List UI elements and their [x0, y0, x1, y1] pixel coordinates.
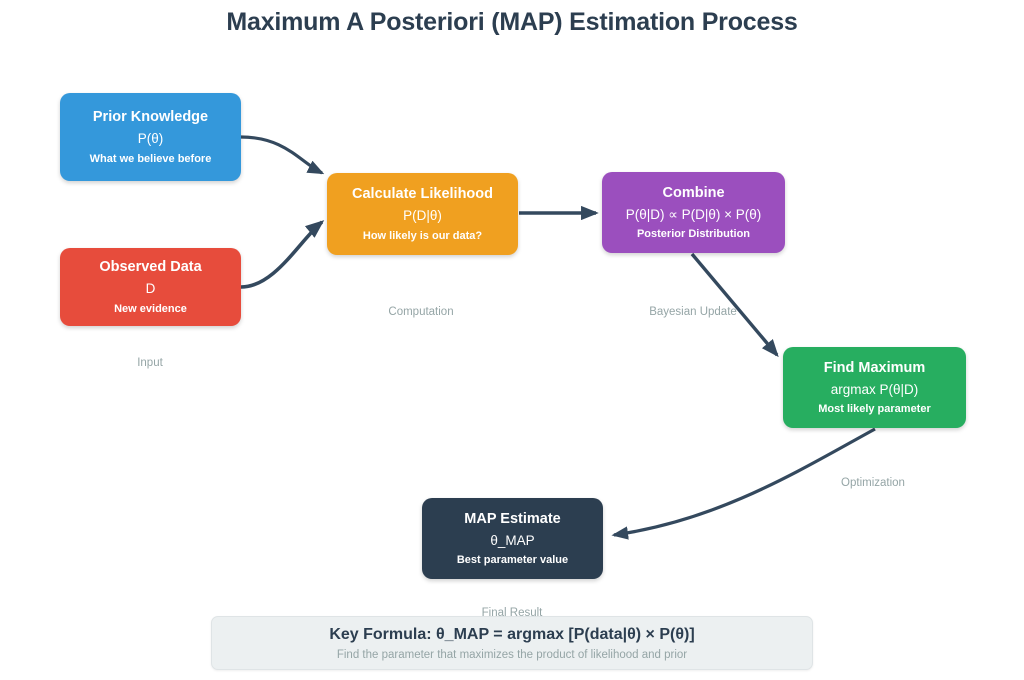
- node-find-maximum[interactable]: Find Maximum argmax P(θ|D) Most likely p…: [783, 347, 966, 428]
- node-title: Combine: [662, 185, 724, 202]
- edge-label-input: Input: [137, 357, 163, 369]
- node-title: Calculate Likelihood: [352, 186, 493, 203]
- node-title: MAP Estimate: [464, 511, 560, 528]
- node-map-estimate[interactable]: MAP Estimate θ_MAP Best parameter value: [422, 498, 603, 579]
- edge-label-bayesian-update: Bayesian Update: [649, 306, 737, 318]
- node-prior-knowledge[interactable]: Prior Knowledge P(θ) What we believe bef…: [60, 93, 241, 181]
- diagram-canvas: Maximum A Posteriori (MAP) Estimation Pr…: [0, 0, 1024, 680]
- node-subtitle: Best parameter value: [457, 554, 568, 566]
- node-subtitle: What we believe before: [90, 153, 212, 165]
- node-formula: P(θ|D) ∝ P(D|θ) × P(θ): [626, 207, 762, 223]
- node-calculate-likelihood[interactable]: Calculate Likelihood P(D|θ) How likely i…: [327, 173, 518, 255]
- node-subtitle: Posterior Distribution: [637, 228, 750, 240]
- node-formula: argmax P(θ|D): [831, 382, 919, 398]
- node-subtitle: How likely is our data?: [363, 230, 482, 242]
- node-observed-data[interactable]: Observed Data D New evidence: [60, 248, 241, 326]
- key-formula-text: Key Formula: θ_MAP = argmax [P(data|θ) ×…: [329, 625, 694, 644]
- edge-label-computation: Computation: [388, 306, 453, 318]
- node-title: Observed Data: [99, 259, 201, 276]
- node-combine[interactable]: Combine P(θ|D) ∝ P(D|θ) × P(θ) Posterior…: [602, 172, 785, 253]
- connector-maximum-to-estimate: [614, 429, 875, 535]
- key-formula-box: Key Formula: θ_MAP = argmax [P(data|θ) ×…: [211, 616, 813, 670]
- page-title: Maximum A Posteriori (MAP) Estimation Pr…: [0, 8, 1024, 37]
- node-formula: D: [146, 281, 156, 297]
- connector-combine-to-maximum: [692, 254, 777, 355]
- edge-label-optimization: Optimization: [841, 477, 905, 489]
- node-subtitle: Most likely parameter: [818, 403, 931, 415]
- key-formula-subtext: Find the parameter that maximizes the pr…: [337, 649, 687, 662]
- connector-prior-to-likelihood: [241, 137, 322, 173]
- node-formula: θ_MAP: [490, 533, 534, 549]
- node-title: Prior Knowledge: [93, 109, 208, 126]
- connector-observed-to-likelihood: [241, 222, 322, 287]
- node-title: Find Maximum: [824, 360, 926, 377]
- node-formula: P(θ): [138, 131, 164, 147]
- node-formula: P(D|θ): [403, 208, 442, 224]
- node-subtitle: New evidence: [114, 303, 187, 315]
